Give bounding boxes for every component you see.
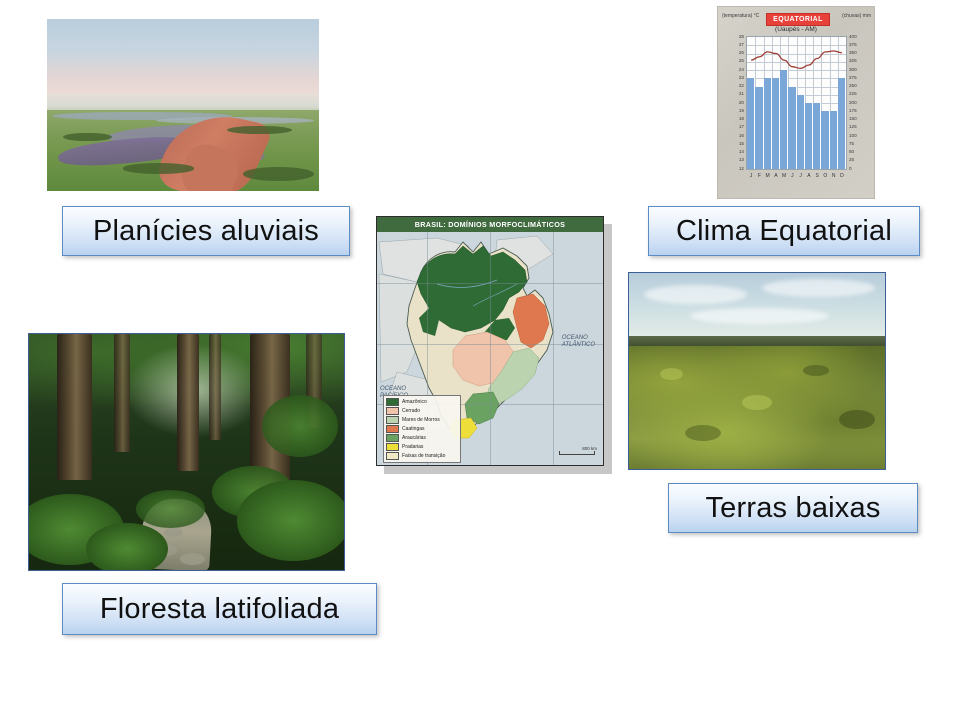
chart-left-tick: 24 bbox=[730, 67, 744, 72]
chart-title: EQUATORIAL bbox=[766, 13, 830, 26]
map-legend-swatch bbox=[386, 407, 399, 415]
map-brasil-dominios-morfoclimaticos[interactable]: BRASIL: DOMÍNIOS MORFOCLIMÁTICOS bbox=[376, 216, 604, 466]
chart-left-tick: 19 bbox=[730, 108, 744, 113]
chart-right-tick: 400 bbox=[849, 34, 869, 39]
label-floresta-latifoliada[interactable]: Floresta latifoliada bbox=[62, 583, 377, 635]
chart-right-tick: 350 bbox=[849, 50, 869, 55]
chart-right-tick: 50 bbox=[849, 149, 869, 154]
riparian-vegetation-1 bbox=[63, 133, 112, 142]
chart-left-tick: 17 bbox=[730, 124, 744, 129]
stream-rock-3 bbox=[164, 528, 183, 537]
chart-y2label: (chuvas) mm bbox=[842, 13, 871, 19]
chart-right-tick: 125 bbox=[849, 124, 869, 129]
chart-left-tick: 15 bbox=[730, 141, 744, 146]
map-legend-label: Amazônico bbox=[402, 399, 427, 405]
map-title: BRASIL: DOMÍNIOS MORFOCLIMÁTICOS bbox=[377, 217, 603, 232]
photo-terras-scene bbox=[629, 273, 885, 469]
photo-terras-baixas[interactable] bbox=[628, 272, 886, 470]
chart-month-label: F bbox=[755, 173, 763, 179]
climograph-equatorial[interactable]: (temperatura) °C (chuvas) mm EQUATORIAL … bbox=[717, 6, 875, 199]
chart-right-tick: 300 bbox=[849, 67, 869, 72]
map-legend-swatch bbox=[386, 416, 399, 424]
chart-month-label: J bbox=[797, 173, 805, 179]
map-legend-item: Faixas de transição bbox=[386, 452, 458, 460]
map-legend-swatch bbox=[386, 398, 399, 406]
riparian-vegetation-4 bbox=[243, 167, 314, 181]
map-legend-label: Araucárias bbox=[402, 435, 426, 441]
chart-month-label: A bbox=[805, 173, 813, 179]
chart-right-tick: 250 bbox=[849, 83, 869, 88]
chart-month-label: J bbox=[747, 173, 755, 179]
riparian-vegetation-3 bbox=[227, 126, 292, 135]
map-legend-swatch bbox=[386, 425, 399, 433]
slide-canvas: Planícies aluviais (temperatura) °C (chu… bbox=[0, 0, 960, 720]
tree-trunk-3 bbox=[177, 334, 199, 471]
map-legend-item: Amazônico bbox=[386, 398, 458, 406]
riparian-vegetation-2 bbox=[123, 163, 194, 173]
map-scale-bar bbox=[559, 451, 595, 455]
map-legend-label: Mares de Morros bbox=[402, 417, 440, 423]
chart-left-tick: 27 bbox=[730, 42, 744, 47]
map-legend-label: Faixas de transição bbox=[402, 453, 445, 459]
chart-month-label: S bbox=[813, 173, 821, 179]
chart-subtitle: (Uaupés - AM) bbox=[718, 26, 874, 33]
photo-planicies-scene bbox=[47, 19, 319, 191]
map-legend-swatch bbox=[386, 443, 399, 451]
map-legend-item: Cerrado bbox=[386, 407, 458, 415]
tree-trunk-1 bbox=[57, 334, 92, 480]
map-legend-item: Araucárias bbox=[386, 434, 458, 442]
chart-left-tick: 20 bbox=[730, 100, 744, 105]
chart-left-tick: 14 bbox=[730, 149, 744, 154]
chart-ylabel: (temperatura) °C bbox=[722, 13, 759, 19]
cloud-2 bbox=[762, 279, 875, 297]
chart-temperature-line bbox=[747, 37, 846, 169]
chart-right-tick: 325 bbox=[849, 58, 869, 63]
map-legend-label: Pradarias bbox=[402, 444, 423, 450]
canopy-highlight-1 bbox=[660, 368, 683, 380]
chart-month-label: M bbox=[764, 173, 772, 179]
chart-left-tick: 12 bbox=[730, 166, 744, 171]
map-legend-label: Caatingas bbox=[402, 426, 425, 432]
chart-month-label: O bbox=[821, 173, 829, 179]
chart-right-tick: 100 bbox=[849, 133, 869, 138]
map-legend-swatch bbox=[386, 434, 399, 442]
map-legend-item: Pradarias bbox=[386, 443, 458, 451]
chart-month-label: M bbox=[780, 173, 788, 179]
chart-plot-area bbox=[746, 36, 847, 170]
chart-left-tick: 26 bbox=[730, 50, 744, 55]
fern-cluster-3 bbox=[237, 480, 345, 560]
photo-planicies-aluviais[interactable] bbox=[47, 19, 319, 191]
map-legend: AmazônicoCerradoMares de MorrosCaatingas… bbox=[383, 395, 461, 463]
chart-left-tick: 23 bbox=[730, 75, 744, 80]
photo-floresta-latifoliada[interactable] bbox=[28, 333, 345, 571]
map-frame: BRASIL: DOMÍNIOS MORFOCLIMÁTICOS bbox=[376, 216, 604, 466]
chart-left-tick: 25 bbox=[730, 58, 744, 63]
chart-month-label: J bbox=[788, 173, 796, 179]
chart-right-tick: 25 bbox=[849, 157, 869, 162]
tree-trunk-4 bbox=[209, 334, 222, 440]
canopy-shadow-3 bbox=[839, 410, 875, 430]
fern-cluster-6 bbox=[262, 395, 338, 456]
cloud-1 bbox=[644, 285, 746, 305]
label-planicies-aluviais[interactable]: Planícies aluviais bbox=[62, 206, 350, 256]
map-gridline-lon-2 bbox=[490, 232, 491, 465]
chart-right-tick: 375 bbox=[849, 42, 869, 47]
chart-right-tick: 175 bbox=[849, 108, 869, 113]
chart-month-label: N bbox=[830, 173, 838, 179]
chart-left-tick: 28 bbox=[730, 34, 744, 39]
chart-right-tick: 200 bbox=[849, 100, 869, 105]
label-clima-equatorial[interactable]: Clima Equatorial bbox=[648, 206, 920, 256]
canopy-highlight-2 bbox=[742, 395, 773, 410]
chart-right-tick: 275 bbox=[849, 75, 869, 80]
chart-right-tick: 0 bbox=[849, 166, 869, 171]
tree-trunk-2 bbox=[114, 334, 130, 452]
chart-left-tick: 13 bbox=[730, 157, 744, 162]
chart-left-tick: 21 bbox=[730, 91, 744, 96]
chart-right-tick: 75 bbox=[849, 141, 869, 146]
map-legend-item: Mares de Morros bbox=[386, 416, 458, 424]
map-gridline-lon-3 bbox=[553, 232, 554, 465]
fern-cluster-5 bbox=[136, 490, 205, 528]
chart-left-tick: 22 bbox=[730, 83, 744, 88]
map-ocean-atlantic-label: OCEANO ATLÂNTICO bbox=[562, 335, 595, 350]
fern-cluster-2 bbox=[86, 523, 168, 571]
chart-left-tick: 16 bbox=[730, 133, 744, 138]
chart-right-tick: 150 bbox=[849, 116, 869, 121]
photo-floresta-scene bbox=[29, 334, 344, 570]
chart-month-label: A bbox=[772, 173, 780, 179]
map-legend-item: Caatingas bbox=[386, 425, 458, 433]
sky-layer bbox=[47, 19, 319, 100]
label-terras-baixas[interactable]: Terras baixas bbox=[668, 483, 918, 533]
chart-right-tick: 225 bbox=[849, 91, 869, 96]
canopy-shadow-2 bbox=[685, 425, 721, 441]
map-legend-label: Cerrado bbox=[402, 408, 420, 414]
chart-month-label: D bbox=[838, 173, 846, 179]
forest-canopy bbox=[629, 346, 885, 469]
map-legend-swatch bbox=[386, 452, 399, 460]
canopy-shadow-1 bbox=[803, 365, 829, 376]
climograph-frame: (temperatura) °C (chuvas) mm EQUATORIAL … bbox=[717, 6, 875, 199]
cloud-3 bbox=[690, 308, 828, 324]
chart-left-tick: 18 bbox=[730, 116, 744, 121]
map-canvas: OCEANO ATLÂNTICO OCEANO PACÍFICO Amazôni… bbox=[377, 232, 603, 465]
